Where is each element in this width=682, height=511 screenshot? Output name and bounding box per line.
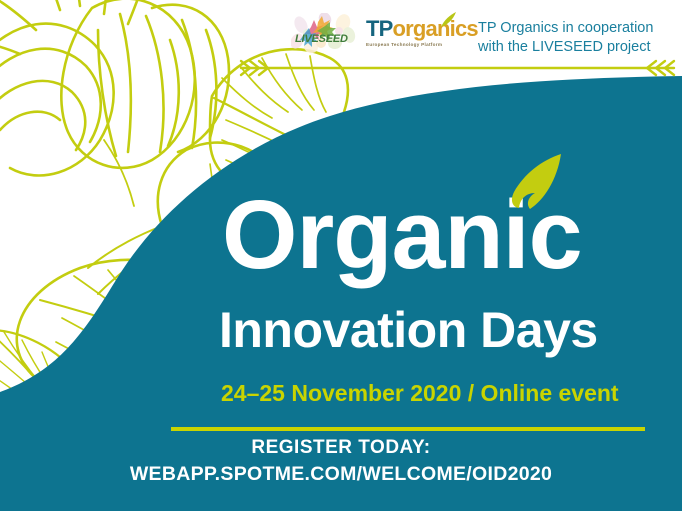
header-caption-line-1: TP Organics in cooperation: [478, 19, 678, 38]
divider-rule: [171, 427, 645, 431]
poster-header: LIVESEED TPorganics European Technology …: [0, 0, 682, 66]
tporganics-leaf-icon: [438, 12, 458, 28]
tporganics-organics-text: organics: [393, 16, 478, 41]
cta-url[interactable]: WEBAPP.SPOTME.COM/WELCOME/OID2020: [0, 461, 682, 488]
header-caption-line-2: with the LIVESEED project: [478, 38, 678, 57]
liveseed-logo: LIVESEED: [291, 13, 357, 55]
cta-block: REGISTER TODAY: WEBAPP.SPOTME.COM/WELCOM…: [0, 435, 682, 488]
liveseed-wordmark: LIVESEED: [295, 33, 348, 45]
poster-canvas: LIVESEED TPorganics European Technology …: [0, 0, 682, 511]
header-caption: TP Organics in cooperation with the LIVE…: [478, 19, 678, 57]
tporganics-tp-text: TP: [366, 16, 393, 41]
tporganics-subtitle: European Technology Platform: [366, 41, 470, 48]
cta-heading: REGISTER TODAY:: [0, 435, 682, 461]
tporganics-logo: TPorganics European Technology Platform: [366, 18, 470, 52]
leaf-icon: [506, 152, 566, 212]
